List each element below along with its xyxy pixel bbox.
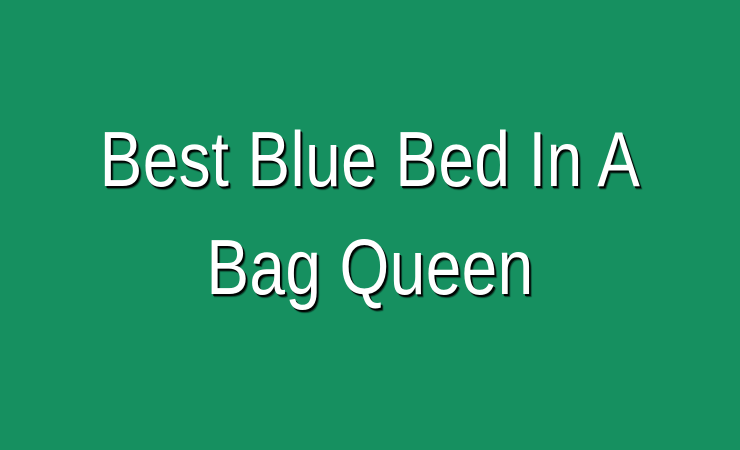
page-title: Best Blue Bed In A Bag Queen — [0, 105, 740, 321]
title-card-banner: Best Blue Bed In A Bag Queen — [0, 0, 740, 450]
page-title-line-2: Bag Queen — [86, 213, 653, 321]
page-title-line-1: Best Blue Bed In A — [86, 105, 653, 213]
